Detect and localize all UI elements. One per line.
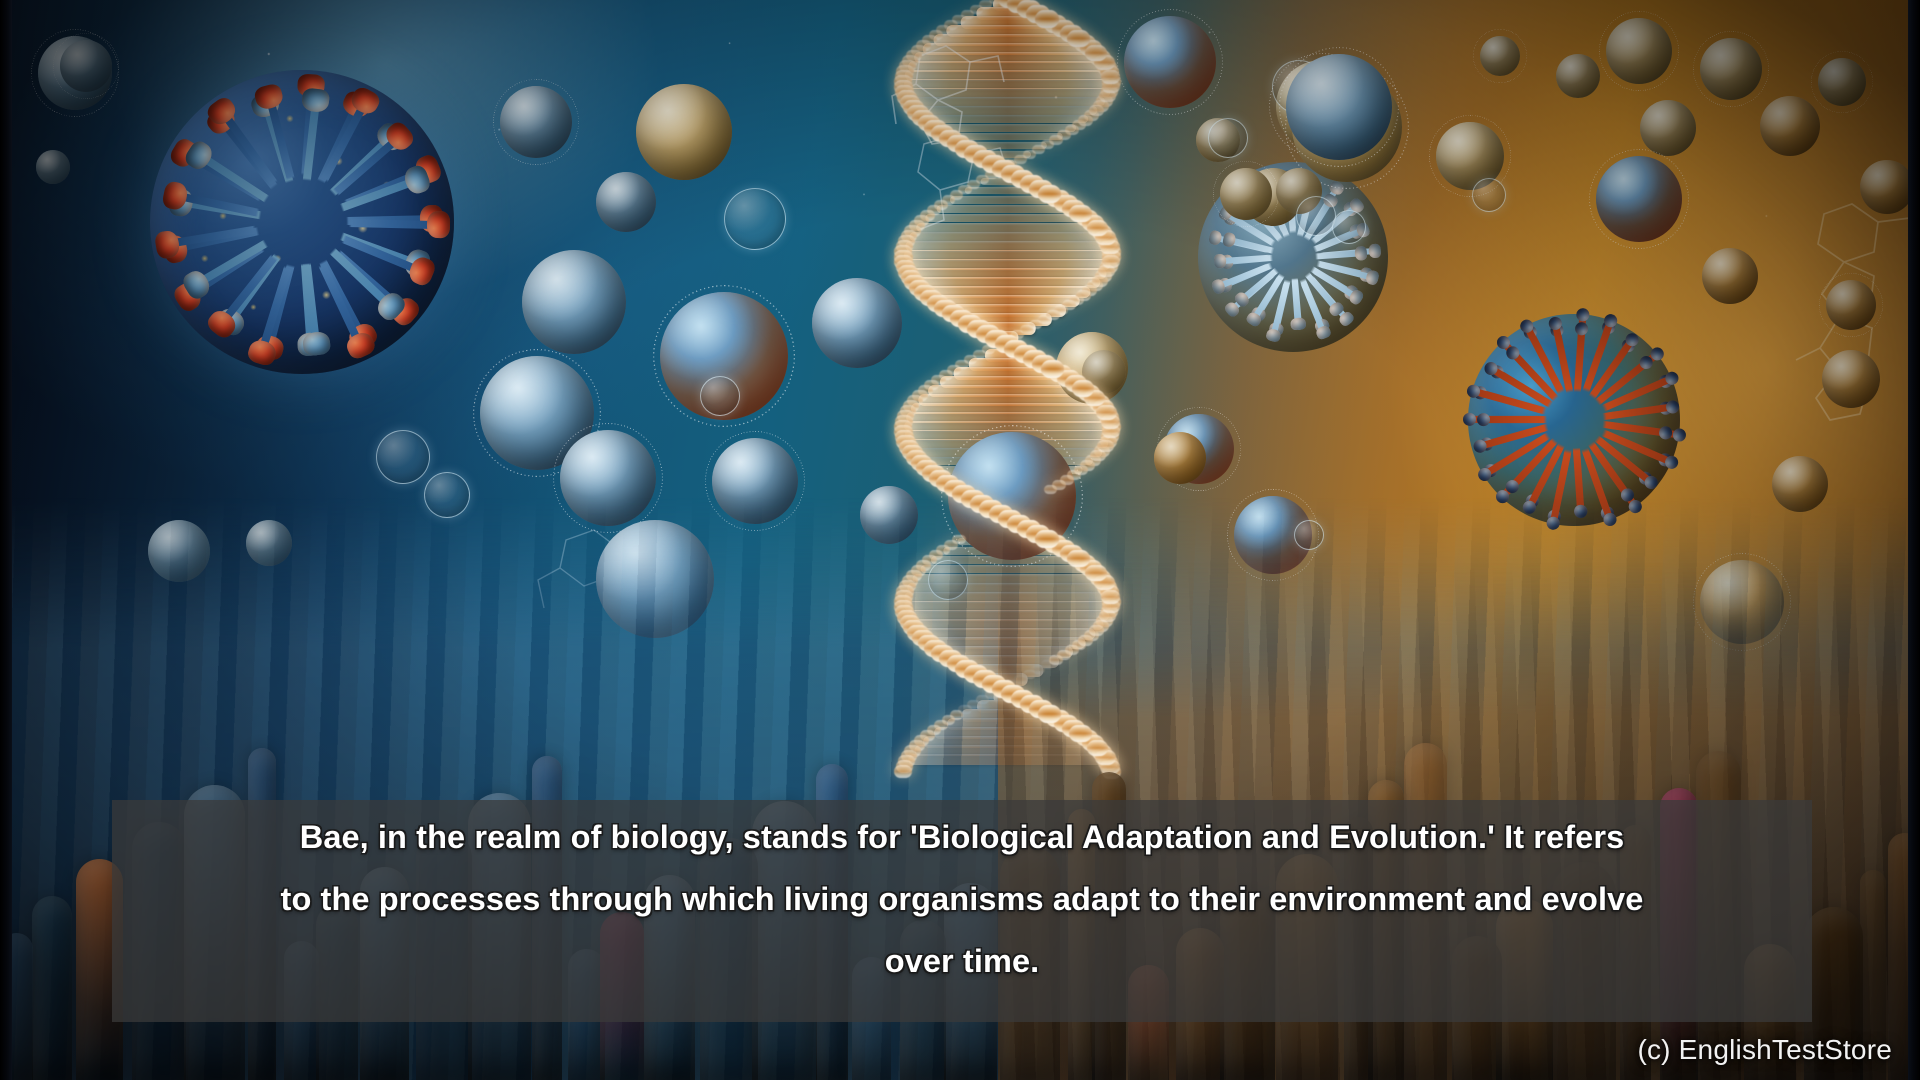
caption-line-2: to the processes through which living or…	[146, 868, 1778, 930]
caption-line-1: Bae, in the realm of biology, stands for…	[146, 806, 1778, 868]
caption-overlay: Bae, in the realm of biology, stands for…	[112, 800, 1812, 1022]
image-canvas: Bae, in the realm of biology, stands for…	[0, 0, 1920, 1080]
watermark-label: (c) EnglishTestStore	[1637, 1034, 1892, 1066]
caption-line-3: over time.	[146, 930, 1778, 992]
